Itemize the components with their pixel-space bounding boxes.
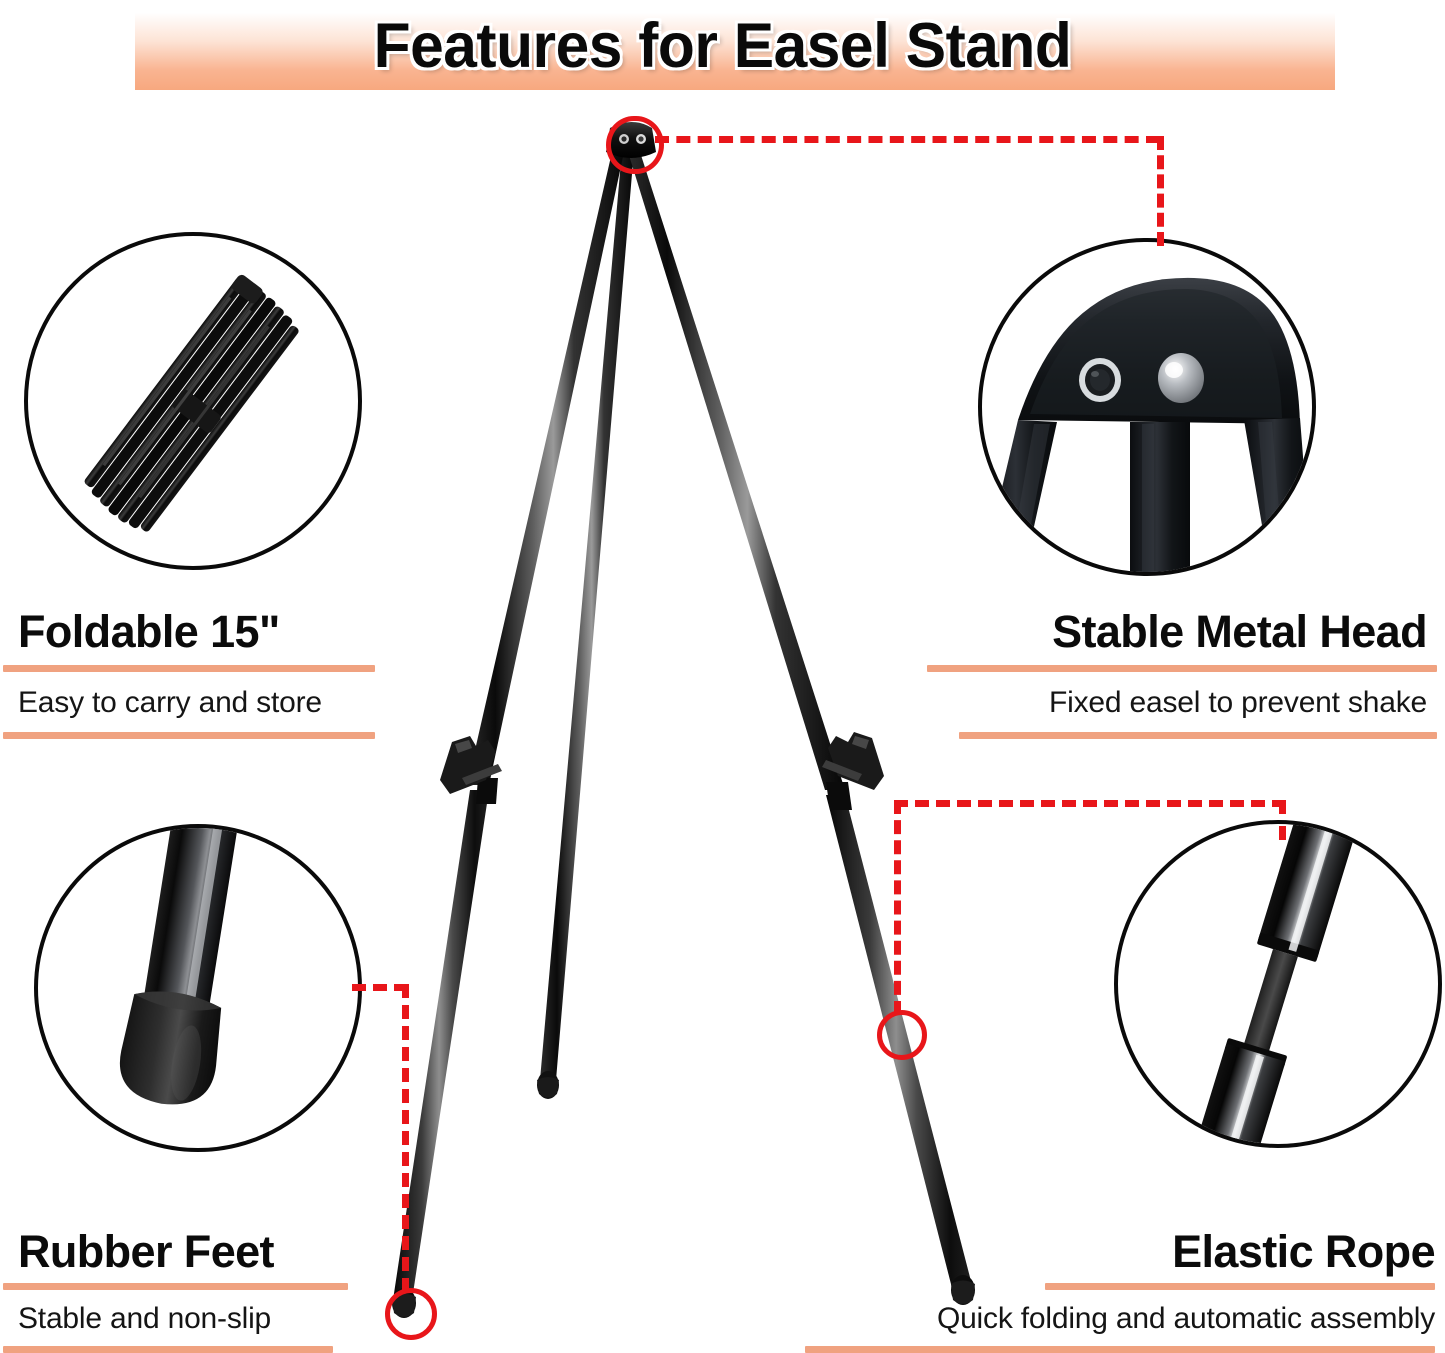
callout-line-metal-head-vertical <box>1157 136 1164 246</box>
callout-line-metal-head-horizontal <box>655 136 1160 143</box>
rubber-foot-cap-icon <box>38 828 358 1148</box>
folded-rods-bundle-icon <box>28 236 358 566</box>
feature-subtitle-foldable: Easy to carry and store <box>18 686 398 720</box>
easel-left-leg <box>392 152 624 1318</box>
feature-rule-bottom-foldable <box>3 732 375 739</box>
feature-block-metal-head: Stable Metal Head Fixed easel to prevent… <box>897 608 1427 739</box>
callout-line-rubber-feet-vertical <box>402 984 409 1292</box>
callout-line-elastic-rope-vertical-2 <box>1279 800 1286 840</box>
callout-line-elastic-rope-vertical <box>894 800 901 1015</box>
feature-block-foldable: Foldable 15" Easy to carry and store <box>18 608 398 739</box>
detail-circle-elastic-rope <box>1114 820 1442 1148</box>
feature-rule-top-foldable <box>3 665 375 672</box>
detail-circle-rubber-feet <box>34 824 362 1152</box>
feature-subtitle-elastic-rope: Quick folding and automatic assembly <box>790 1302 1435 1336</box>
feature-block-elastic-rope: Elastic Rope Quick folding and automatic… <box>790 1228 1435 1353</box>
feature-subtitle-rubber-feet: Stable and non-slip <box>18 1302 378 1336</box>
callout-ring-elastic-rope <box>877 1010 927 1060</box>
callout-ring-rubber-feet <box>385 1288 437 1340</box>
callout-line-elastic-rope-horizontal <box>894 800 1286 807</box>
elastic-rope-joint-icon <box>1118 824 1438 1144</box>
feature-rule-bottom-metal-head <box>959 732 1437 739</box>
feature-rule-top-elastic-rope <box>1045 1283 1435 1290</box>
metal-head-cap-icon <box>982 242 1312 572</box>
feature-subtitle-metal-head: Fixed easel to prevent shake <box>897 686 1427 720</box>
feature-rule-top-rubber-feet <box>3 1283 348 1290</box>
detail-circle-foldable <box>24 232 362 570</box>
feature-title-metal-head: Stable Metal Head <box>897 608 1427 655</box>
detail-circle-metal-head <box>978 238 1316 576</box>
feature-title-rubber-feet: Rubber Feet <box>18 1228 378 1275</box>
feature-title-foldable: Foldable 15" <box>18 608 398 655</box>
feature-rule-top-metal-head <box>927 665 1437 672</box>
feature-rule-bottom-rubber-feet <box>3 1346 333 1353</box>
callout-ring-metal-head <box>606 116 664 174</box>
callout-line-rubber-feet-horizontal <box>352 984 408 991</box>
feature-block-rubber-feet: Rubber Feet Stable and non-slip <box>18 1228 378 1353</box>
feature-rule-bottom-elastic-rope <box>805 1346 1435 1353</box>
feature-title-elastic-rope: Elastic Rope <box>790 1228 1435 1275</box>
